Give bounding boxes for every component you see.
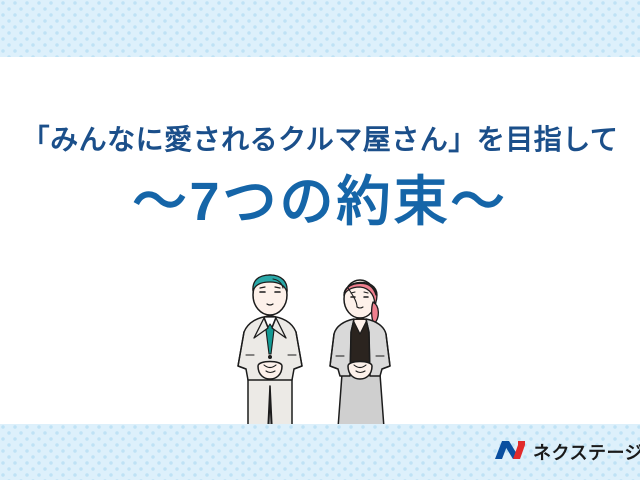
headline-block: 「みんなに愛されるクルマ屋さん」を目指して ～7つの約束～ [0, 57, 640, 230]
male-staff-figure [238, 275, 302, 428]
top-dot-band [0, 0, 640, 57]
brand-logo: ネクステージ [494, 438, 640, 467]
content-stage: 「みんなに愛されるクルマ屋さん」を目指して ～7つの約束～ [0, 57, 640, 424]
headline-line-2: ～7つの約束～ [0, 174, 640, 231]
female-staff-figure [330, 280, 390, 428]
staff-illustration [224, 262, 424, 432]
nextage-n-logo-icon [494, 438, 526, 467]
headline-line-1: 「みんなに愛されるクルマ屋さん」を目指して [0, 125, 640, 156]
brand-name-label: ネクステージ [533, 444, 640, 462]
promo-banner: 「みんなに愛されるクルマ屋さん」を目指して ～7つの約束～ [0, 0, 640, 480]
